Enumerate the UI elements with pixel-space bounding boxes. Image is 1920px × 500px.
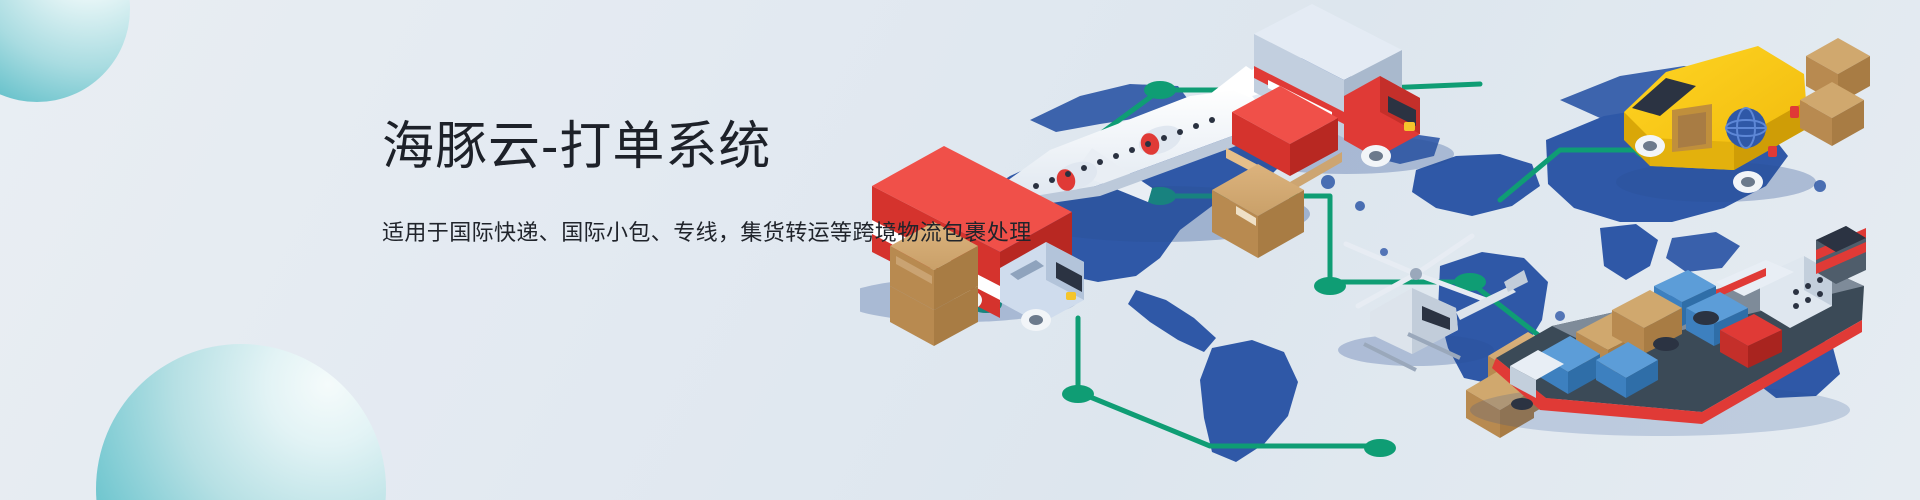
page-subtitle: 适用于国际快递、国际小包、专线，集货转运等跨境物流包裹处理: [382, 218, 1142, 249]
global-logistics-illustration: [860, 0, 1920, 500]
decorative-teal-circle: [0, 0, 130, 102]
decorative-teal-circle-large: [96, 344, 386, 500]
page-title: 海豚云-打单系统: [382, 118, 1142, 178]
banner-copy: 海豚云-打单系统 适用于国际快递、国际小包、专线，集货转运等跨境物流包裹处理: [382, 118, 1142, 249]
promo-banner: 海豚云-打单系统 适用于国际快递、国际小包、专线，集货转运等跨境物流包裹处理: [0, 0, 1920, 500]
yellow-delivery-van: [1616, 38, 1870, 202]
